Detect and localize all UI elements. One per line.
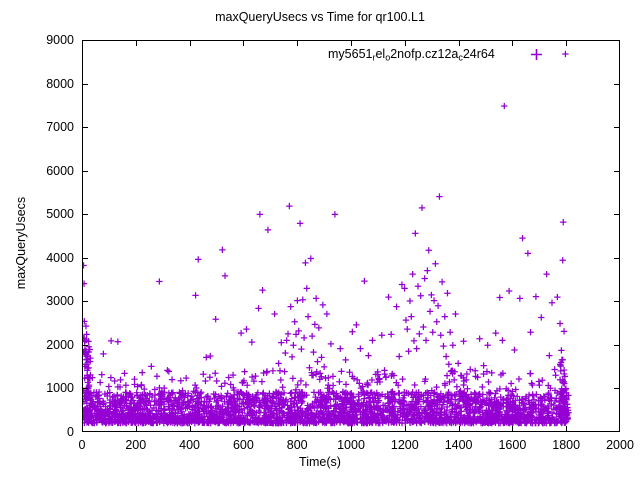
scatter-point	[357, 345, 363, 351]
x-tick-mark	[459, 426, 460, 432]
scatter-point	[420, 324, 426, 330]
scatter-point	[275, 360, 281, 366]
scatter-point	[214, 378, 220, 384]
scatter-point	[385, 294, 391, 300]
scatter-point	[452, 311, 458, 317]
scatter-point	[290, 375, 296, 381]
scatter-point	[212, 370, 218, 376]
scatter-point	[241, 368, 247, 374]
scatter-point	[444, 372, 450, 378]
scatter-point	[517, 295, 523, 301]
scatter-point	[369, 337, 375, 343]
scatter-point	[444, 290, 450, 296]
scatter-point	[484, 342, 490, 348]
scatter-point	[312, 321, 318, 327]
scatter-point	[460, 338, 466, 344]
y-tick-mark	[614, 214, 620, 215]
scatter-point	[138, 382, 144, 388]
scatter-point	[422, 275, 428, 281]
y-tick-mark	[614, 84, 620, 85]
scatter-point	[403, 317, 409, 323]
scatter-point	[413, 345, 419, 351]
scatter-point	[443, 353, 449, 359]
plot-area	[82, 40, 620, 432]
scatter-point	[419, 205, 425, 211]
scatter-point	[310, 349, 316, 355]
scatter-point	[301, 335, 307, 341]
scatter-point	[139, 369, 145, 375]
scatter-point	[305, 313, 311, 319]
scatter-point	[439, 279, 445, 285]
scatter-point	[300, 297, 306, 303]
scatter-point	[311, 389, 317, 395]
scatter-point	[222, 380, 228, 386]
scatter-points-layer	[83, 41, 619, 431]
scatter-point	[476, 336, 482, 342]
scatter-point	[156, 278, 162, 284]
scatter-point	[424, 267, 430, 273]
scatter-point	[480, 362, 486, 368]
scatter-point	[405, 348, 411, 354]
scatter-point	[337, 345, 343, 351]
scatter-point	[207, 353, 213, 359]
scatter-point	[446, 361, 452, 367]
scatter-point	[294, 297, 300, 303]
chart-title: maxQueryUsecs vs Time for qr100.L1	[0, 10, 640, 24]
scatter-point	[115, 339, 121, 345]
x-tick-mark	[190, 40, 191, 46]
scatter-point	[288, 303, 294, 309]
x-tick-mark	[136, 40, 137, 46]
scatter-point	[349, 329, 355, 335]
scatter-point	[436, 193, 442, 199]
scatter-point	[265, 227, 271, 233]
x-tick-label: 1200	[375, 438, 435, 452]
legend: my5651relo2nofp.cz12ac24r64	[328, 47, 549, 63]
scatter-point	[336, 379, 342, 385]
x-tick-mark	[136, 426, 137, 432]
scatter-point	[442, 313, 448, 319]
scatter-point	[554, 294, 560, 300]
scatter-point	[558, 347, 564, 353]
x-tick-mark	[82, 426, 83, 432]
y-tick-label: 0	[8, 425, 74, 439]
scatter-point	[238, 330, 244, 336]
scatter-point	[407, 298, 413, 304]
scatter-point	[313, 295, 319, 301]
scatter-point	[97, 379, 103, 385]
scatter-point	[252, 373, 258, 379]
scatter-point	[430, 329, 436, 335]
x-tick-mark	[405, 426, 406, 432]
x-axis-title: Time(s)	[0, 455, 640, 469]
x-tick-mark	[566, 40, 567, 46]
y-tick-mark	[82, 345, 88, 346]
scatter-point	[123, 382, 129, 388]
scatter-point	[527, 329, 533, 335]
x-tick-mark	[459, 40, 460, 46]
scatter-point	[192, 382, 198, 388]
scatter-point	[328, 341, 334, 347]
scatter-point	[383, 374, 389, 380]
scatter-point	[416, 331, 422, 337]
scatter-point	[409, 271, 415, 277]
x-tick-label: 0	[52, 438, 112, 452]
scatter-point	[316, 325, 322, 331]
scatter-point	[100, 351, 106, 357]
y-tick-mark	[82, 258, 88, 259]
scatter-point	[525, 250, 531, 256]
y-tick-label: 7000	[8, 120, 74, 134]
scatter-point	[427, 308, 433, 314]
scatter-point	[438, 332, 444, 338]
y-tick-mark	[614, 345, 620, 346]
scatter-point	[83, 262, 87, 268]
scatter-point	[396, 353, 402, 359]
x-tick-mark	[243, 40, 244, 46]
legend-key-plus-icon	[525, 48, 549, 61]
x-tick-label: 1600	[482, 438, 542, 452]
scatter-point	[501, 103, 507, 109]
x-tick-mark	[82, 40, 83, 46]
x-tick-label: 1400	[429, 438, 489, 452]
scatter-point	[148, 363, 154, 369]
scatter-point	[292, 319, 298, 325]
scatter-point	[330, 382, 336, 388]
legend-series-label: my5651relo2nofp.cz12ac24r64	[328, 47, 495, 63]
x-tick-label: 1000	[321, 438, 381, 452]
scatter-point	[393, 303, 399, 309]
scatter-point	[270, 368, 276, 374]
scatter-point	[108, 338, 114, 344]
scatter-point	[252, 403, 258, 409]
scatter-point	[218, 383, 224, 389]
scatter-point	[399, 376, 405, 382]
scatter-point	[108, 374, 114, 380]
scatter-point	[106, 383, 112, 389]
scatter-point	[117, 377, 123, 383]
scatter-point	[152, 386, 158, 392]
scatter-point	[298, 346, 304, 352]
scatter-point	[511, 347, 517, 353]
scatter-point	[343, 381, 349, 387]
scatter-point	[298, 378, 304, 384]
scatter-point	[281, 368, 287, 374]
scatter-point	[166, 368, 172, 374]
scatter-point	[516, 376, 522, 382]
scatter-point	[552, 372, 558, 378]
x-tick-mark	[566, 426, 567, 432]
y-tick-mark	[82, 127, 88, 128]
scatter-point	[260, 370, 266, 376]
scatter-point	[99, 371, 105, 377]
x-tick-mark	[512, 40, 513, 46]
scatter-point	[321, 364, 327, 370]
scatter-point	[379, 332, 385, 338]
y-tick-mark	[614, 301, 620, 302]
scatter-point	[493, 330, 499, 336]
x-tick-mark	[351, 426, 352, 432]
scatter-point	[219, 247, 225, 253]
scatter-point	[467, 366, 473, 372]
scatter-point	[207, 374, 213, 380]
scatter-point	[497, 294, 503, 300]
scatter-point	[428, 292, 434, 298]
y-tick-mark	[82, 214, 88, 215]
scatter-point	[195, 256, 201, 262]
scatter-point	[538, 314, 544, 320]
scatter-point	[342, 357, 348, 363]
scatter-point	[330, 373, 336, 379]
scatter-point	[464, 386, 470, 392]
scatter-point	[434, 319, 440, 325]
scatter-point	[485, 379, 491, 385]
scatter-point	[561, 328, 567, 334]
scatter-point	[287, 390, 293, 396]
scatter-point	[297, 220, 303, 226]
x-tick-label: 800	[267, 438, 327, 452]
y-tick-mark	[82, 388, 88, 389]
scatter-point	[529, 391, 535, 397]
x-tick-label: 2000	[590, 438, 640, 452]
scatter-point	[464, 371, 470, 377]
scatter-point	[303, 382, 309, 388]
scatter-point	[131, 376, 137, 382]
y-tick-mark	[614, 388, 620, 389]
scatter-point	[506, 288, 512, 294]
scatter-point	[423, 337, 429, 343]
scatter-point	[417, 293, 423, 299]
scatter-point	[169, 376, 175, 382]
scatter-point	[440, 343, 446, 349]
scatter-point	[353, 322, 359, 328]
x-tick-label: 600	[213, 438, 273, 452]
scatter-point	[111, 378, 117, 384]
scatter-point	[192, 292, 198, 298]
scatter-point	[83, 280, 87, 286]
scatter-point	[388, 331, 394, 337]
scatter-point	[257, 211, 263, 217]
scatter-point	[271, 311, 277, 317]
scatter-point	[222, 273, 228, 279]
scatter-point	[426, 247, 432, 253]
scatter-point	[282, 350, 288, 356]
scatter-point	[408, 313, 414, 319]
chart-screenshot: maxQueryUsecs vs Time for qr100.L1 01000…	[0, 0, 640, 480]
x-tick-label: 1800	[536, 438, 596, 452]
scatter-point	[487, 390, 493, 396]
scatter-point	[285, 331, 291, 337]
x-tick-mark	[297, 426, 298, 432]
scatter-point	[447, 329, 453, 335]
scatter-point	[543, 271, 549, 277]
y-tick-label: 9000	[8, 33, 74, 47]
scatter-point	[499, 337, 505, 343]
scatter-point	[546, 352, 552, 358]
y-tick-mark	[614, 127, 620, 128]
scatter-point	[404, 326, 410, 332]
scatter-point	[318, 354, 324, 360]
y-tick-label: 1000	[8, 381, 74, 395]
scatter-point	[203, 354, 209, 360]
scatter-point	[308, 255, 314, 261]
scatter-point	[381, 371, 387, 377]
scatter-point	[415, 283, 421, 289]
x-tick-mark	[243, 426, 244, 432]
scatter-point	[264, 368, 270, 374]
scatter-point	[249, 339, 255, 345]
x-tick-label: 400	[160, 438, 220, 452]
x-tick-label: 200	[106, 438, 166, 452]
x-tick-mark	[297, 40, 298, 46]
y-tick-mark	[82, 84, 88, 85]
scatter-point	[533, 293, 539, 299]
scatter-point	[332, 211, 338, 217]
scatter-point	[489, 370, 495, 376]
y-tick-mark	[614, 258, 620, 259]
scatter-point	[324, 311, 330, 317]
scatter-point	[320, 302, 326, 308]
scatter-point	[302, 260, 308, 266]
scatter-point	[314, 358, 320, 364]
scatter-point	[412, 230, 418, 236]
y-tick-label: 8000	[8, 77, 74, 91]
scatter-point	[435, 303, 441, 309]
scatter-point	[212, 316, 218, 322]
scatter-point	[259, 378, 265, 384]
y-axis-title: maxQueryUsecs	[14, 143, 28, 343]
scatter-point	[560, 257, 566, 263]
x-tick-mark	[405, 40, 406, 46]
scatter-point	[432, 261, 438, 267]
scatter-point	[255, 305, 261, 311]
scatter-point	[519, 235, 525, 241]
scatter-point	[411, 338, 417, 344]
x-tick-mark	[190, 426, 191, 432]
scatter-point	[560, 219, 566, 225]
scatter-point	[202, 378, 208, 384]
scatter-point	[121, 370, 127, 376]
scatter-point	[479, 384, 485, 390]
x-tick-mark	[512, 426, 513, 432]
scatter-point	[200, 371, 206, 377]
scatter-point	[551, 366, 557, 372]
scatter-point	[338, 368, 344, 374]
scatter-point	[317, 370, 323, 376]
scatter-point	[259, 287, 265, 293]
scatter-point	[508, 380, 514, 386]
scatter-point	[290, 342, 296, 348]
scatter-point	[562, 51, 568, 57]
scatter-point	[412, 382, 418, 388]
scatter-point	[243, 326, 249, 332]
scatter-point	[472, 368, 478, 374]
scatter-point	[286, 203, 292, 209]
scatter-point	[277, 368, 283, 374]
y-tick-mark	[82, 171, 88, 172]
scatter-point	[278, 377, 284, 383]
x-tick-mark	[619, 40, 620, 46]
y-tick-mark	[614, 171, 620, 172]
scatter-point	[279, 384, 285, 390]
scatter-point	[527, 370, 533, 376]
scatter-point	[450, 342, 456, 348]
scatter-point	[431, 297, 437, 303]
scatter-point	[289, 354, 295, 360]
scatter-point	[164, 367, 170, 373]
scatter-point	[304, 285, 310, 291]
scatter-point	[361, 278, 367, 284]
scatter-point	[536, 382, 542, 388]
x-tick-mark	[619, 426, 620, 432]
scatter-point	[492, 390, 498, 396]
scatter-point	[365, 352, 371, 358]
y-tick-mark	[82, 301, 88, 302]
x-tick-mark	[351, 40, 352, 46]
scatter-point	[154, 373, 160, 379]
scatter-point	[83, 318, 88, 324]
scatter-point	[557, 320, 563, 326]
scatter-point	[455, 360, 461, 366]
scatter-point	[549, 300, 555, 306]
scatter-point	[309, 333, 315, 339]
scatter-point	[539, 377, 545, 383]
